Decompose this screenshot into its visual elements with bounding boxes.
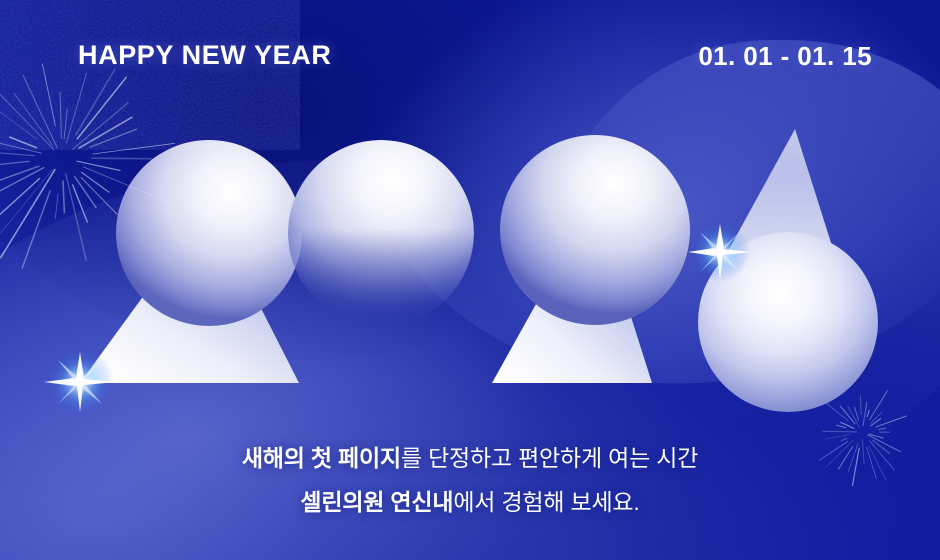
promo-date-range: 01. 01 - 01. 15	[698, 41, 872, 72]
subcopy-line-2-rest: 에서 경험해 보세요.	[453, 489, 639, 515]
subcopy-line-2-bold: 셀린의원 연신내	[300, 489, 453, 515]
sparkle-left-icon	[44, 348, 116, 416]
subcopy-line-2: 셀린의원 연신내에서 경험해 보세요.	[0, 480, 940, 524]
sparkle-right-icon	[688, 222, 752, 282]
subcopy-block: 새해의 첫 페이지를 단정하고 편안하게 여는 시간 셀린의원 연신내에서 경험…	[0, 436, 940, 524]
firework-top-left-icon	[0, 64, 174, 268]
new-year-promo-banner: HAPPY NEW YEAR 01. 01 - 01. 15 새해의 첫 페이지…	[0, 0, 940, 560]
subcopy-line-1-rest: 를 단정하고 편안하게 여는 시간	[401, 445, 698, 471]
subcopy-line-1: 새해의 첫 페이지를 단정하고 편안하게 여는 시간	[0, 436, 940, 480]
subcopy-line-1-bold: 새해의 첫 페이지	[242, 445, 401, 471]
headline-happy-new-year: HAPPY NEW YEAR	[78, 40, 331, 71]
